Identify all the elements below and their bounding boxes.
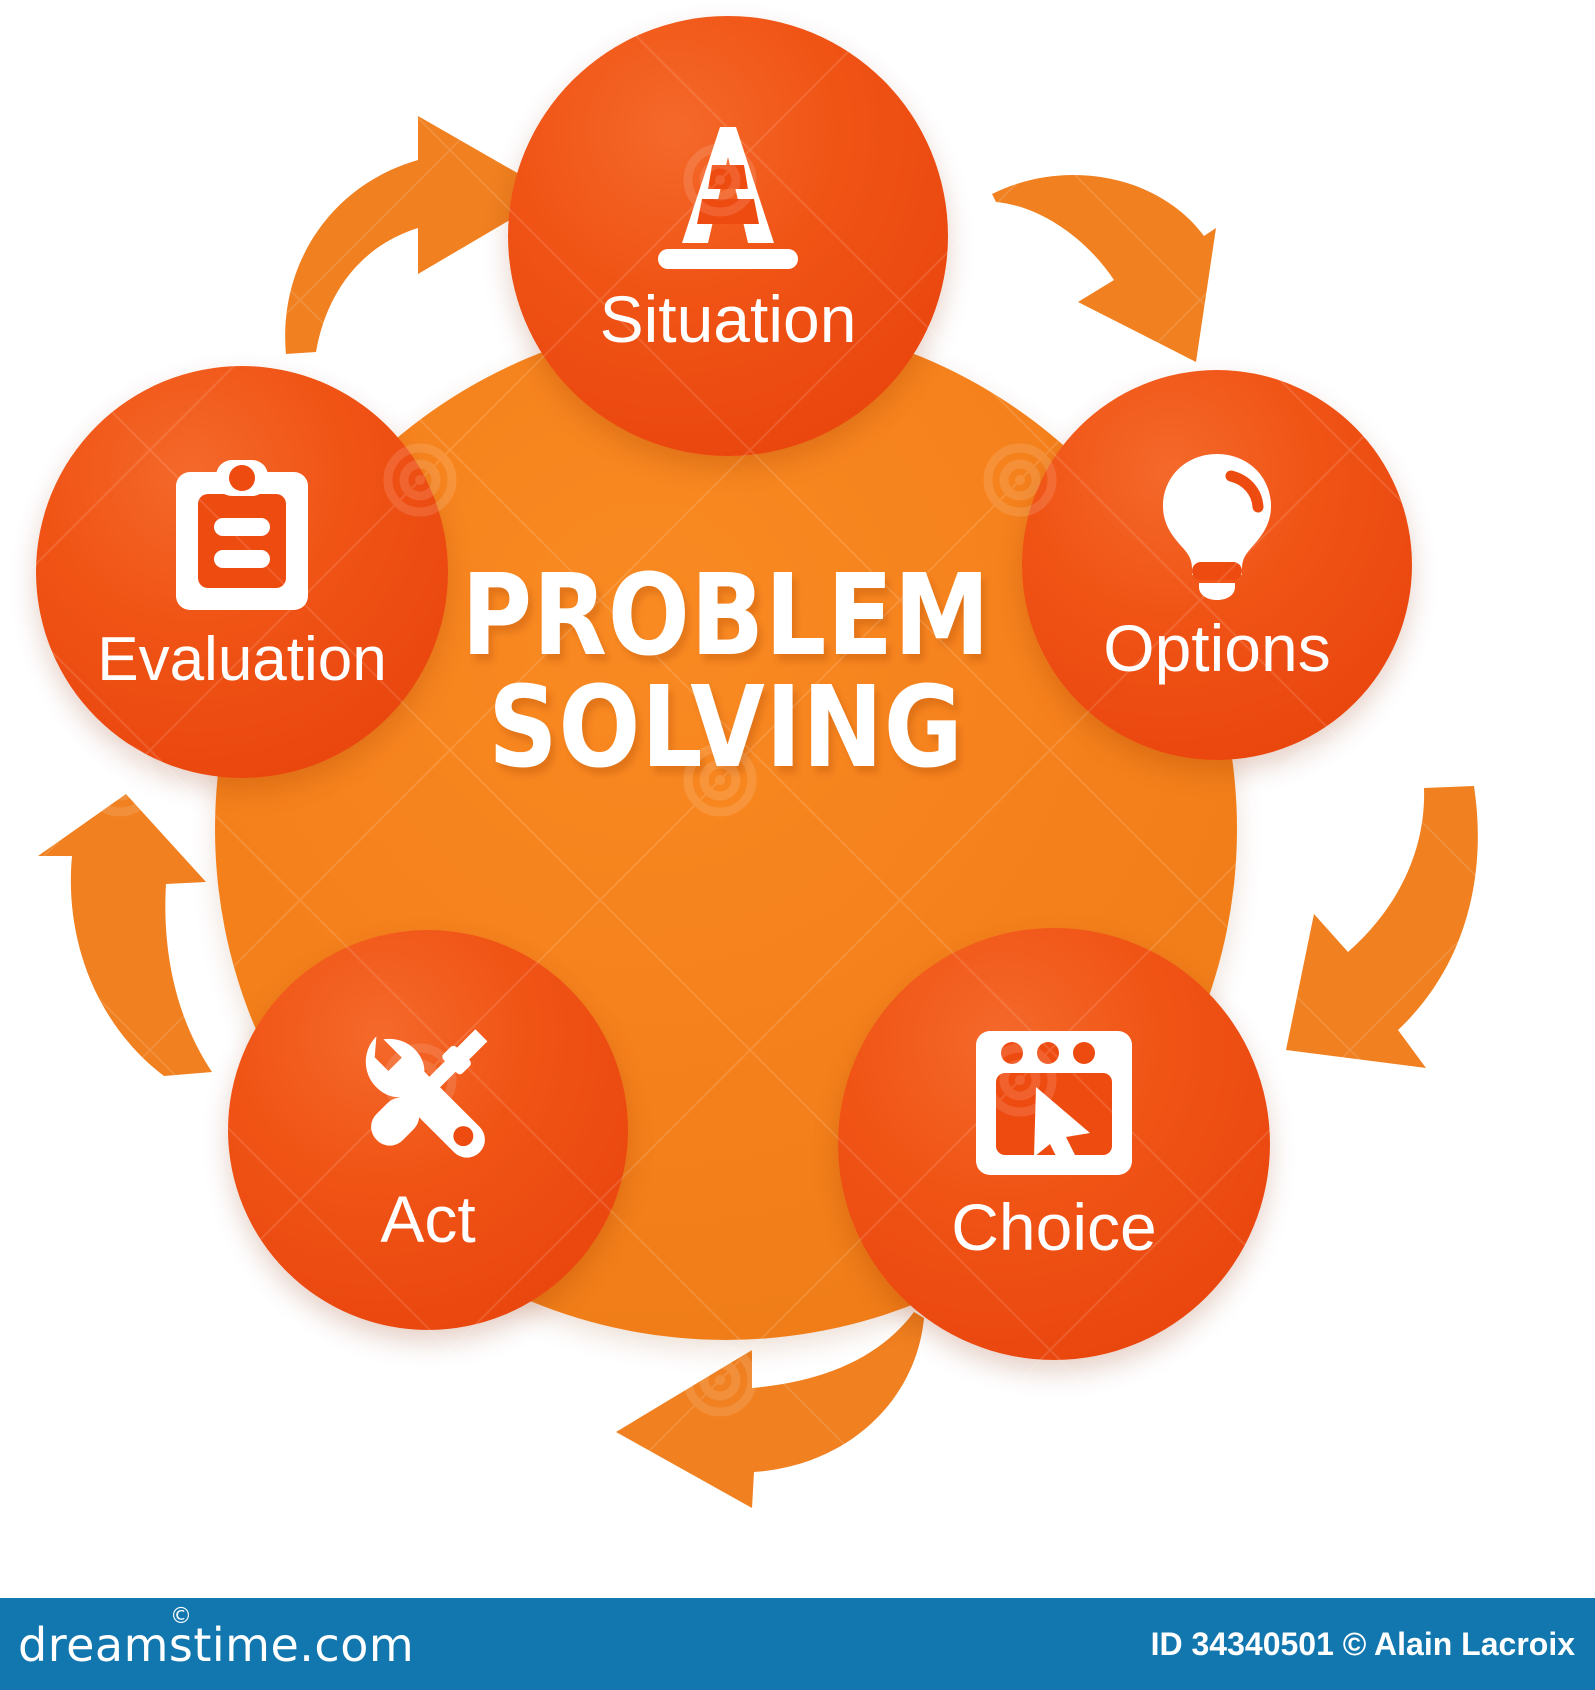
image-credit: ID 34340501 © Alain Lacroix — [1151, 1626, 1575, 1663]
node-act-label: Act — [380, 1186, 475, 1252]
node-act[interactable]: Act — [228, 930, 628, 1330]
arrow-choice-to-act — [596, 1310, 926, 1510]
registered-mark-icon: © — [170, 1604, 193, 1629]
arrow-options-to-choice — [1248, 782, 1488, 1072]
browser-cursor-icon — [974, 1029, 1134, 1182]
node-options[interactable]: Options — [1022, 370, 1412, 760]
wrench-screwdriver-icon — [348, 1009, 508, 1172]
arrow-act-to-evaluation — [36, 790, 236, 1080]
node-choice[interactable]: Choice — [838, 928, 1270, 1360]
clipboard-icon — [172, 454, 312, 619]
node-evaluation[interactable]: Evaluation — [36, 366, 448, 778]
traffic-cone-icon — [652, 121, 804, 276]
node-situation-label: Situation — [600, 286, 857, 352]
node-options-label: Options — [1103, 615, 1330, 681]
lightbulb-icon — [1157, 450, 1277, 605]
node-situation[interactable]: Situation — [508, 16, 948, 456]
dreamstime-logo-text: dreamstime.com — [18, 1618, 414, 1672]
node-choice-label: Choice — [951, 1194, 1156, 1260]
diagram-canvas: PROBLEM SOLVING Situation Op — [0, 0, 1595, 1690]
dreamstime-logo[interactable]: dreamstime.com © — [18, 1618, 414, 1672]
footer-bar: dreamstime.com © ID 34340501 © Alain Lac… — [0, 1598, 1595, 1690]
node-evaluation-label: Evaluation — [97, 629, 387, 691]
arrow-situation-to-options — [990, 140, 1220, 365]
